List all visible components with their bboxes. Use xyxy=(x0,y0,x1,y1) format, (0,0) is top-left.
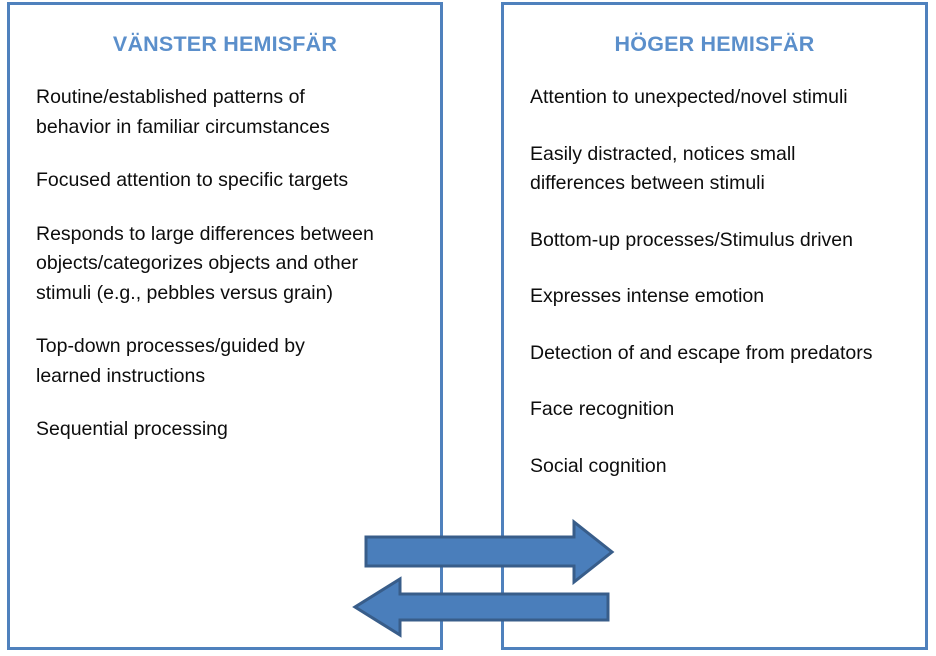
list-item: Attention to unexpected/novel stimuli xyxy=(530,83,915,113)
list-item: Routine/established patterns of behavior… xyxy=(36,83,426,142)
list-item: Focused attention to specific targets xyxy=(36,166,426,196)
list-item: Social cognition xyxy=(530,452,915,482)
diagram-canvas: VÄNSTER HEMISFÄR Routine/established pat… xyxy=(0,0,936,656)
right-hemisphere-item-list: Attention to unexpected/novel stimuli Ea… xyxy=(530,83,915,508)
left-hemisphere-item-list: Routine/established patterns of behavior… xyxy=(36,83,426,469)
list-item: Sequential processing xyxy=(36,415,426,445)
list-item: Bottom-up processes/Stimulus driven xyxy=(530,226,915,256)
list-item: Easily distracted, notices small differe… xyxy=(530,140,915,199)
left-hemisphere-box: VÄNSTER HEMISFÄR Routine/established pat… xyxy=(7,2,443,650)
list-item: Top-down processes/guided by learned ins… xyxy=(36,332,426,391)
right-hemisphere-box: HÖGER HEMISFÄR Attention to unexpected/n… xyxy=(501,2,928,650)
list-item: Detection of and escape from predators xyxy=(530,339,915,369)
left-hemisphere-title: VÄNSTER HEMISFÄR xyxy=(10,32,440,57)
list-item: Responds to large differences between ob… xyxy=(36,220,426,309)
list-item: Face recognition xyxy=(530,395,915,425)
right-hemisphere-title: HÖGER HEMISFÄR xyxy=(504,32,925,57)
list-item: Expresses intense emotion xyxy=(530,282,915,312)
